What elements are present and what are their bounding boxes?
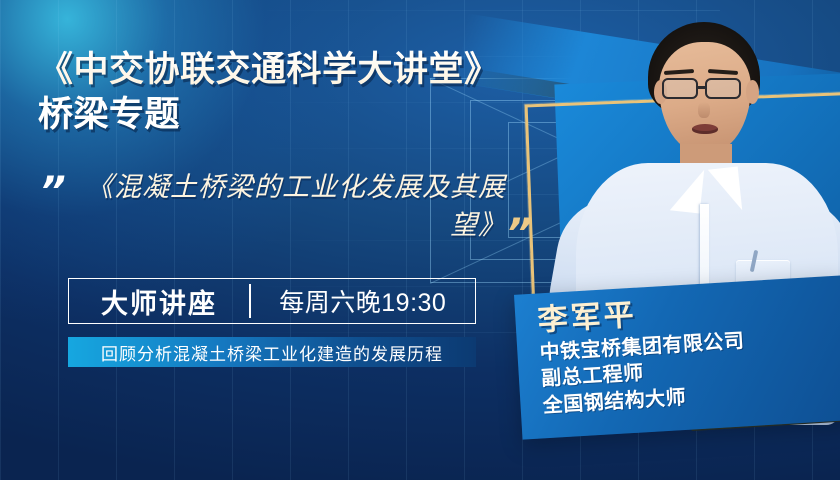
quote-text: 《混凝土桥梁的工业化发展及其展望》 bbox=[86, 168, 506, 245]
portrait-collar-right bbox=[708, 167, 742, 214]
subtitle-bar-text: 回顾分析混凝土桥梁工业化建造的发展历程 bbox=[101, 340, 443, 365]
portrait-glasses-right-lens bbox=[705, 78, 741, 99]
portrait-mouth bbox=[692, 124, 718, 134]
lecture-info-box: 大师讲座 每周六晚19:30 bbox=[68, 278, 476, 324]
title-line-1: 《中交协联交通科学大讲堂》 bbox=[38, 50, 500, 89]
subtitle-bar: 回顾分析混凝土桥梁工业化建造的发展历程 bbox=[68, 337, 476, 367]
title-line-2: 桥梁专题 bbox=[38, 93, 558, 138]
portrait-glasses-bridge bbox=[698, 86, 707, 89]
webinar-poster: 《中交协联交通科学大讲堂》 桥梁专题 ” 《混凝土桥梁的工业化发展及其展望》 ”… bbox=[0, 0, 840, 480]
quote-close-mark: ” bbox=[506, 214, 529, 254]
lecture-schedule: 每周六晚19:30 bbox=[251, 279, 475, 323]
page-title: 《中交协联交通科学大讲堂》 桥梁专题 bbox=[38, 48, 558, 138]
speaker-info: 李军平 中铁宝桥集团有限公司 副总工程师 全国钢结构大师 bbox=[537, 288, 823, 420]
portrait-ear-right bbox=[746, 80, 759, 104]
portrait-glasses-left-lens bbox=[662, 78, 698, 99]
speaker-credentials: 中铁宝桥集团有限公司 副总工程师 全国钢结构大师 bbox=[539, 324, 823, 420]
portrait-nose bbox=[698, 102, 710, 118]
quote-open-mark: ” bbox=[40, 172, 63, 212]
lecture-label: 大师讲座 bbox=[69, 279, 249, 323]
